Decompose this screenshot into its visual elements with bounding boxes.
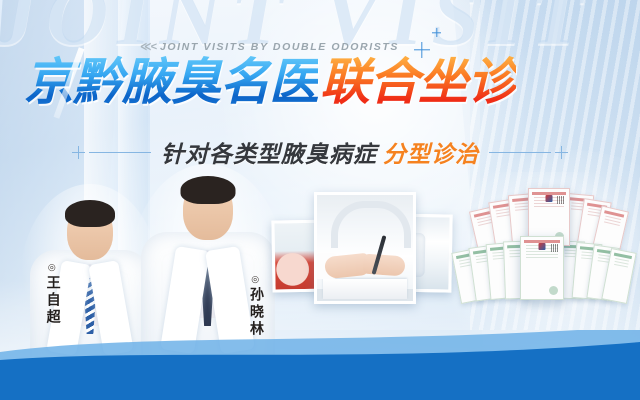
doctor-name-label-2: ◎ 孙晓林	[247, 275, 263, 338]
doctor-name-text-1: 王自超	[44, 275, 60, 326]
medical-lamp-arc	[331, 201, 411, 248]
photo-card-group	[272, 192, 452, 304]
bottom-wave-decoration	[0, 330, 640, 400]
subtitle-decoration-right	[489, 146, 568, 159]
doctor-hair-1	[65, 200, 115, 227]
promo-banner: JOINT VISIT ≪<JOINT VISITS BY DOUBLE ODO…	[0, 0, 640, 400]
title-blue-text: 京黔腋臭名医	[24, 50, 318, 114]
photo-card-center-image	[317, 195, 413, 301]
divider-line-left	[89, 152, 151, 153]
plus-icon-left	[72, 146, 85, 159]
certificate-front-featured	[520, 236, 564, 300]
subtitle-decoration-left	[72, 146, 151, 159]
doctor-name-label-1: ◎ 王自超	[44, 263, 60, 326]
photo-card-center	[314, 192, 416, 304]
doctor-name-mark-icon-1: ◎	[48, 263, 56, 273]
doctor-name-mark-icon-2: ◎	[251, 275, 259, 285]
subtitle-row: 针对各类型腋臭病症分型诊治	[0, 136, 640, 168]
sparkle-plus-small-icon	[432, 28, 441, 37]
divider-line-right	[489, 152, 551, 153]
doctor-hair-2	[180, 176, 235, 204]
wave-svg	[0, 330, 640, 400]
subtitle-highlight-text: 分型诊治	[383, 135, 479, 169]
certificate-display	[452, 186, 638, 314]
hand-right	[362, 254, 405, 277]
title-orange-text: 联合坐诊	[320, 50, 516, 114]
plus-icon-right	[555, 146, 568, 159]
main-title: 京黔腋臭名医联合坐诊	[24, 50, 624, 114]
subtitle-main-text: 针对各类型腋臭病症	[161, 135, 377, 169]
prescription-paper	[323, 279, 407, 299]
